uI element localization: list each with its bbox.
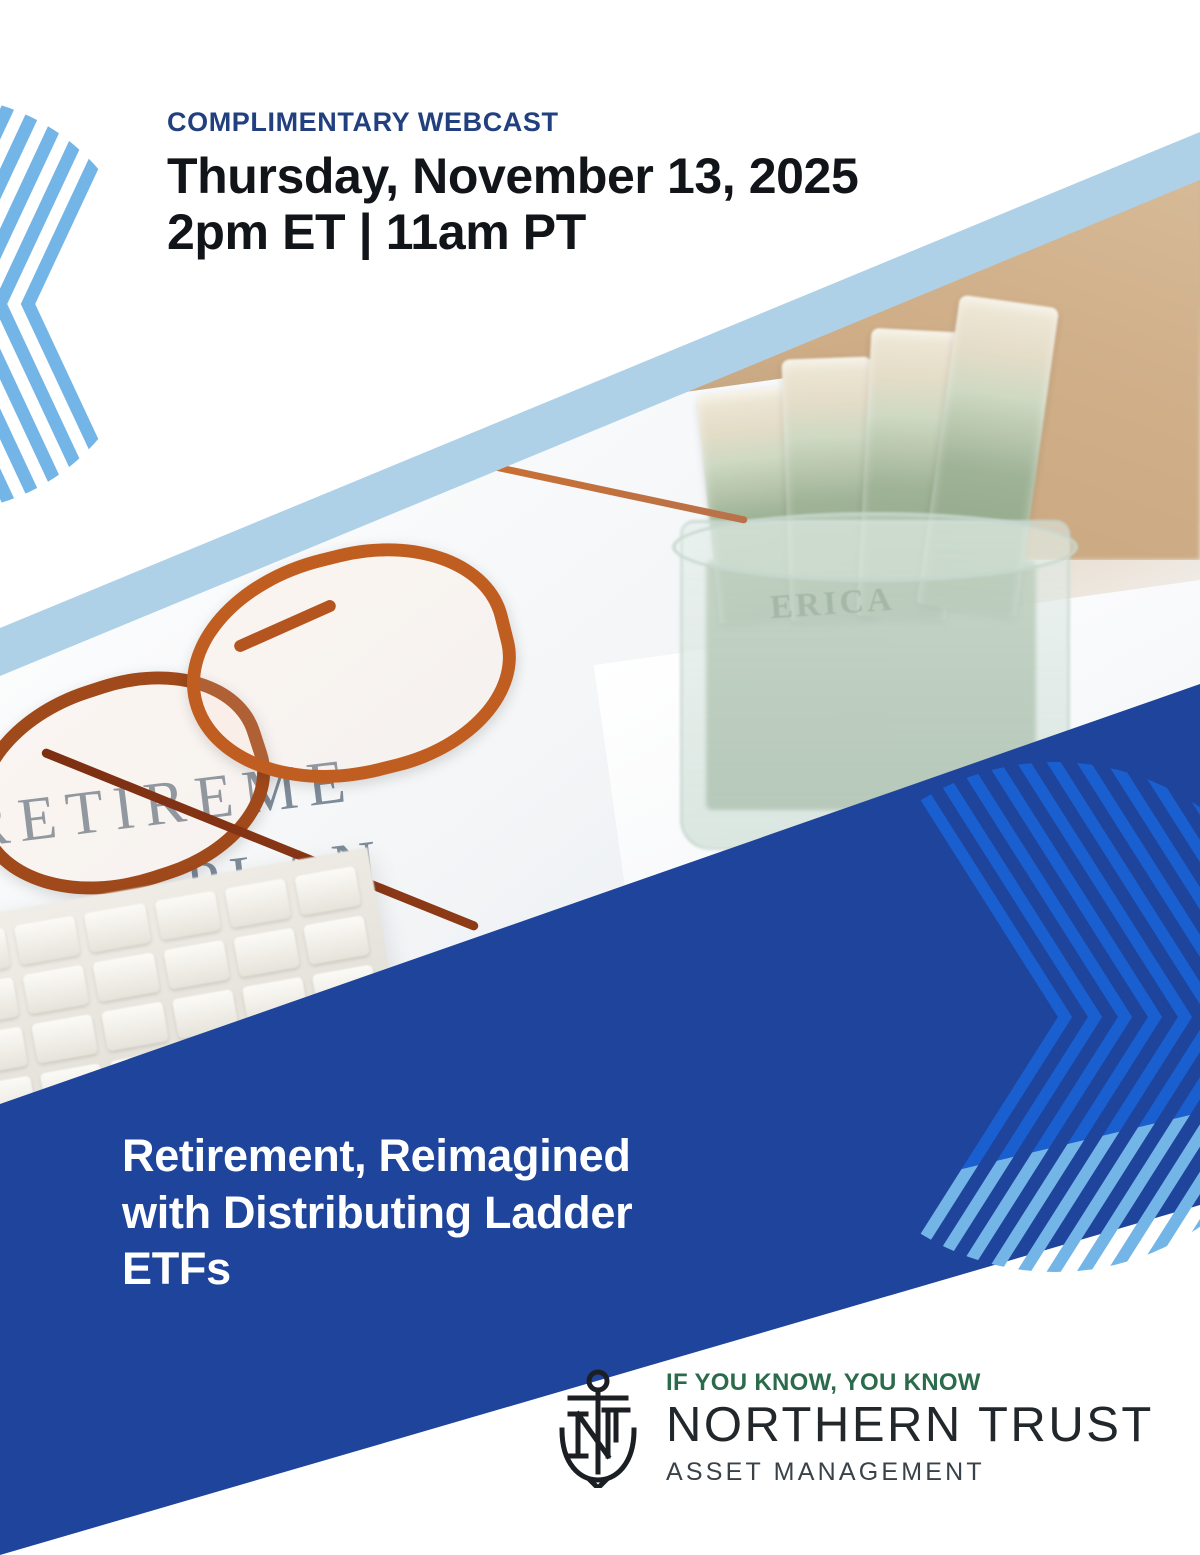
logo-brand-name: NORTHERN TRUST (666, 1400, 1154, 1451)
keyboard-key (163, 940, 230, 990)
chevron-pattern-icon (905, 762, 1200, 1272)
keyboard-key (23, 965, 90, 1015)
keyboard-key (14, 915, 81, 965)
keyboard-key (101, 1001, 168, 1051)
keyboard-key (303, 915, 370, 965)
keyboard-key (233, 927, 300, 977)
keyboard-key (154, 891, 221, 941)
keyboard-key (224, 878, 291, 928)
logo-division-name: ASSET MANAGEMENT (666, 1459, 1154, 1487)
webcast-datetime: Thursday, November 13, 2025 2pm ET | 11a… (167, 148, 1027, 260)
webcast-kicker: COMPLIMENTARY WEBCAST (167, 108, 1027, 138)
flyer-page: RETIREME PLAN ERICA (0, 0, 1200, 1555)
keyboard-key (84, 903, 151, 953)
page-title: Retirement, Reimagined with Distributing… (122, 1128, 842, 1298)
keyboard-key (93, 952, 160, 1002)
chevron-circle-pattern-left (0, 96, 158, 512)
eyeglass-temple-arm (492, 463, 748, 524)
keyboard-key (294, 866, 361, 916)
chevron-pattern-icon (0, 96, 158, 512)
keyboard-key (0, 928, 11, 978)
anchor-nt-monogram-icon (556, 1368, 640, 1488)
logo-wordmark: IF YOU KNOW, YOU KNOW NORTHERN TRUST ASS… (666, 1370, 1154, 1486)
keyboard-key (31, 1014, 98, 1064)
logo-tagline: IF YOU KNOW, YOU KNOW (666, 1370, 1154, 1396)
northern-trust-logo: IF YOU KNOW, YOU KNOW NORTHERN TRUST ASS… (556, 1368, 1154, 1488)
header-block: COMPLIMENTARY WEBCAST Thursday, November… (167, 108, 1027, 260)
keyboard-key (0, 977, 20, 1027)
chevron-circle-pattern-right (905, 762, 1200, 1272)
keyboard-key (0, 1026, 28, 1076)
